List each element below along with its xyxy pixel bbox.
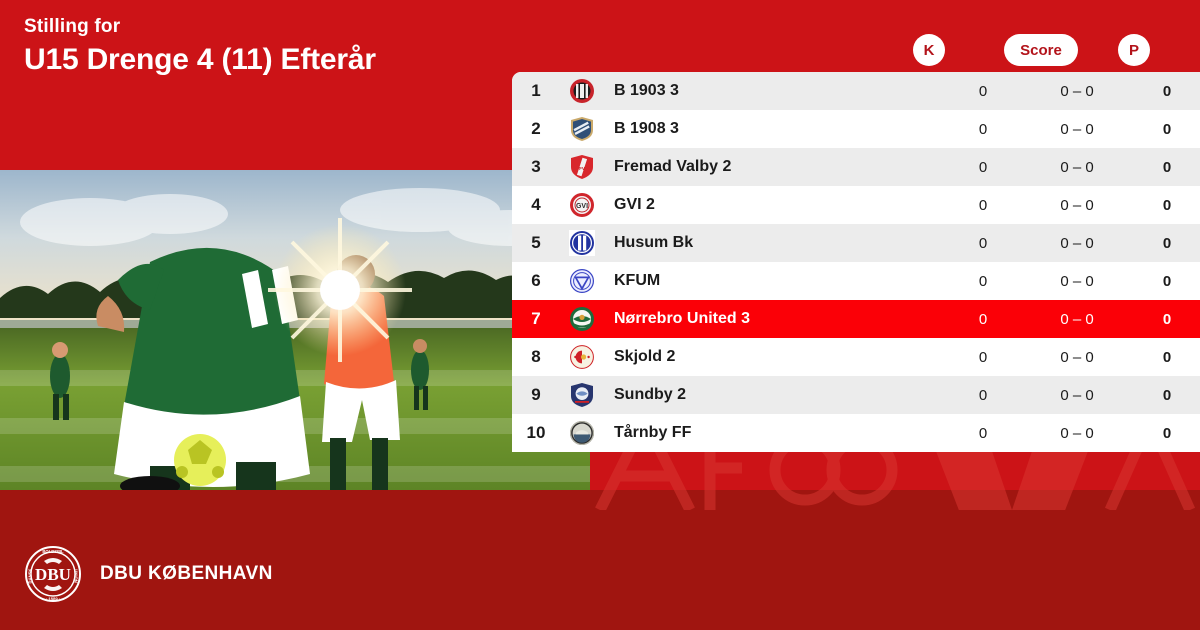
club-logo-kfum — [560, 268, 604, 294]
row-goal-score: 0 – 0 — [1020, 83, 1134, 100]
row-team-name: B 1908 3 — [604, 120, 946, 138]
row-rank: 8 — [512, 347, 560, 367]
standings-row[interactable]: 8Skjold 200 – 00 — [512, 338, 1200, 376]
row-rank: 1 — [512, 81, 560, 101]
row-rank: 2 — [512, 119, 560, 139]
svg-text:DBU: DBU — [35, 565, 71, 584]
row-points: 0 — [1134, 159, 1200, 176]
dbu-seal-logo-icon: DBU BOLDSPIL · 1889 · DANSK UNION — [24, 545, 82, 603]
row-goal-score: 0 – 0 — [1020, 311, 1134, 328]
svg-text:GVI: GVI — [576, 203, 588, 210]
row-goal-score: 0 – 0 — [1020, 235, 1134, 252]
row-matches-played: 0 — [946, 349, 1020, 366]
row-points: 0 — [1134, 273, 1200, 290]
club-logo-taarnby-ff — [560, 420, 604, 446]
row-matches-played: 0 — [946, 83, 1020, 100]
row-team-name: Fremad Valby 2 — [604, 158, 946, 176]
svg-text:DANSK: DANSK — [28, 569, 33, 584]
row-team-name: Tårnby FF — [604, 424, 946, 442]
svg-text:· 1889 ·: · 1889 · — [46, 596, 60, 601]
row-rank: 9 — [512, 385, 560, 405]
row-points: 0 — [1134, 235, 1200, 252]
row-team-name: GVI 2 — [604, 196, 946, 214]
club-logo-b1908 — [560, 116, 604, 142]
row-team-name: Skjold 2 — [604, 348, 946, 366]
row-rank: 5 — [512, 233, 560, 253]
row-matches-played: 0 — [946, 425, 1020, 442]
row-goal-score: 0 – 0 — [1020, 349, 1134, 366]
row-team-name: KFUM — [604, 272, 946, 290]
standings-row[interactable]: 7Nørrebro United 300 – 00 — [512, 300, 1200, 338]
row-matches-played: 0 — [946, 159, 1020, 176]
standings-row[interactable]: 10Tårnby FF00 – 00 — [512, 414, 1200, 452]
row-matches-played: 0 — [946, 121, 1020, 138]
row-team-name: Husum Bk — [604, 234, 946, 252]
row-rank: 4 — [512, 195, 560, 215]
club-logo-gvi: GVI — [560, 192, 604, 218]
svg-text:UNION: UNION — [74, 569, 79, 583]
row-goal-score: 0 – 0 — [1020, 273, 1134, 290]
table-column-headers: K Score P — [512, 34, 1200, 72]
column-header-k: K — [913, 34, 945, 66]
club-logo-husum-bk — [560, 230, 604, 256]
standings-table: 1B 1903 300 – 002B 1908 300 – 003FVFrema… — [512, 72, 1200, 452]
row-rank: 7 — [512, 309, 560, 329]
club-logo-norrebro-united — [560, 306, 604, 332]
row-points: 0 — [1134, 349, 1200, 366]
club-logo-fremad-valby: FV — [560, 154, 604, 180]
row-points: 0 — [1134, 121, 1200, 138]
row-points: 0 — [1134, 311, 1200, 328]
row-team-name: Sundby 2 — [604, 386, 946, 404]
club-logo-b1903 — [560, 78, 604, 104]
row-points: 0 — [1134, 387, 1200, 404]
row-rank: 3 — [512, 157, 560, 177]
row-matches-played: 0 — [946, 387, 1020, 404]
standings-row[interactable]: 3FVFremad Valby 200 – 00 — [512, 148, 1200, 186]
row-rank: 6 — [512, 271, 560, 291]
column-header-score: Score — [1004, 34, 1078, 66]
row-rank: 10 — [512, 423, 560, 443]
header-kicker: Stilling for — [24, 16, 494, 39]
svg-text:BOLDSPIL: BOLDSPIL — [42, 549, 64, 554]
row-points: 0 — [1134, 197, 1200, 214]
standings-graphic: Stilling for U15 Drenge 4 (11) Efterår — [0, 0, 1200, 630]
standings-row[interactable]: 6KFUM00 – 00 — [512, 262, 1200, 300]
row-matches-played: 0 — [946, 197, 1020, 214]
row-goal-score: 0 – 0 — [1020, 197, 1134, 214]
row-goal-score: 0 – 0 — [1020, 425, 1134, 442]
row-goal-score: 0 – 0 — [1020, 387, 1134, 404]
standings-row[interactable]: 9Sundby 200 – 00 — [512, 376, 1200, 414]
row-matches-played: 0 — [946, 311, 1020, 328]
row-team-name: B 1903 3 — [604, 82, 946, 100]
svg-text:FV: FV — [579, 166, 586, 171]
row-goal-score: 0 – 0 — [1020, 159, 1134, 176]
club-logo-sundby — [560, 382, 604, 408]
page-title: U15 Drenge 4 (11) Efterår — [24, 43, 494, 78]
standings-row[interactable]: 2B 1908 300 – 00 — [512, 110, 1200, 148]
match-photo — [0, 170, 590, 490]
standings-row[interactable]: 5Husum Bk00 – 00 — [512, 224, 1200, 262]
club-logo-skjold — [560, 344, 604, 370]
footer-organisation: DBU KØBENHAVN — [100, 563, 273, 585]
row-goal-score: 0 – 0 — [1020, 121, 1134, 138]
row-matches-played: 0 — [946, 273, 1020, 290]
row-points: 0 — [1134, 83, 1200, 100]
footer: DBU BOLDSPIL · 1889 · DANSK UNION DBU KØ… — [24, 545, 273, 603]
header: Stilling for U15 Drenge 4 (11) Efterår — [24, 16, 494, 77]
standings-row[interactable]: 4GVIGVI 200 – 00 — [512, 186, 1200, 224]
row-matches-played: 0 — [946, 235, 1020, 252]
row-team-name: Nørrebro United 3 — [604, 310, 946, 328]
column-header-p: P — [1118, 34, 1150, 66]
standings-row[interactable]: 1B 1903 300 – 00 — [512, 72, 1200, 110]
row-points: 0 — [1134, 425, 1200, 442]
